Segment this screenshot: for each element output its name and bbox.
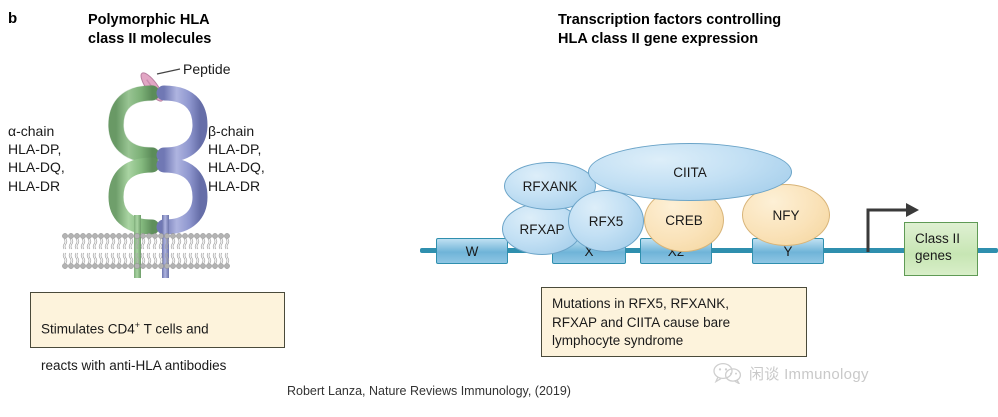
- figure-panel-b: b Polymorphic HLA class II molecules Tra…: [0, 0, 998, 417]
- watermark-text: 闲谈 Immunology: [749, 363, 869, 384]
- left-caption-line-1: Stimulates CD4+ T cells and: [41, 319, 274, 339]
- class-ii-genes-box: Class II genes: [904, 222, 978, 276]
- peptide-label: Peptide: [183, 60, 230, 78]
- left-caption-line-2: reacts with anti-HLA antibodies: [41, 357, 274, 376]
- right-panel-title: Transcription factors controlling HLA cl…: [558, 11, 781, 49]
- wechat-icon: [712, 362, 742, 384]
- watermark: 闲谈 Immunology: [712, 362, 869, 384]
- left-caption-box: Stimulates CD4+ T cells and reacts with …: [30, 292, 285, 348]
- beta-chain-label: β-chain HLA-DP, HLA-DQ, HLA-DR: [208, 122, 265, 195]
- alpha-chain-label: α-chain HLA-DP, HLA-DQ, HLA-DR: [8, 122, 65, 195]
- left-panel-title: Polymorphic HLA class II molecules: [88, 11, 211, 49]
- panel-letter: b: [8, 10, 17, 27]
- protein-rfx5: RFX5: [568, 190, 644, 252]
- dna-box-w: W: [436, 238, 508, 264]
- protein-ciita: CIITA: [588, 143, 792, 201]
- right-caption-box: Mutations in RFX5, RFXANK, RFXAP and CII…: [541, 287, 807, 357]
- lipid-bilayer: [62, 231, 230, 271]
- beta-chain-shape: [152, 85, 208, 245]
- citation-text: Robert Lanza, Nature Reviews Immunology,…: [287, 384, 571, 398]
